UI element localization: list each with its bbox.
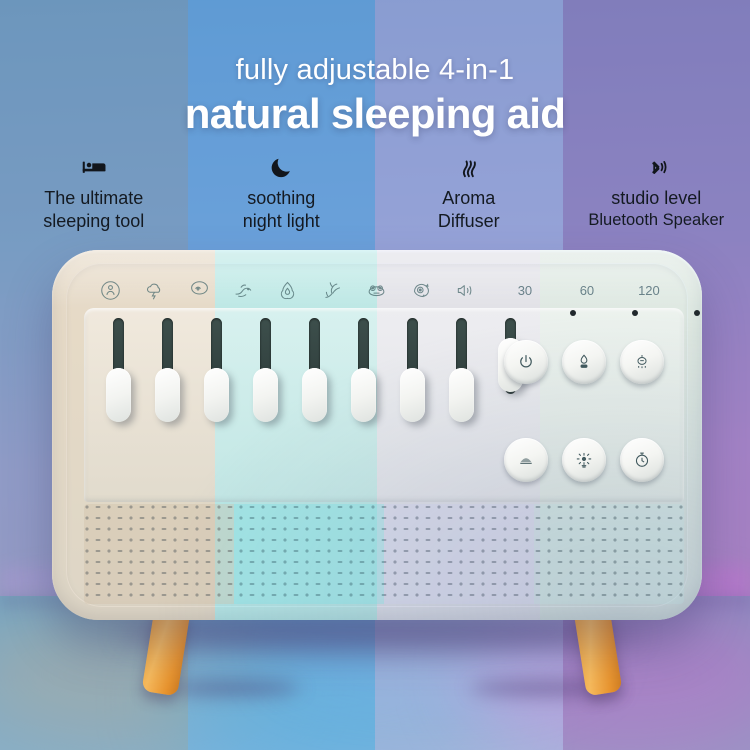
light-button[interactable] (562, 438, 606, 482)
feature-aroma-diffuser: Aroma Diffuser (375, 152, 563, 233)
sound-icon-strip: 30 60 120 (88, 270, 680, 310)
headline-block: fully adjustable 4-in-1 natural sleeping… (0, 0, 750, 138)
slider-knob[interactable] (204, 368, 229, 422)
cricket-grass-icon (310, 280, 354, 301)
slider-knob[interactable] (106, 368, 131, 422)
bluetooth-waves-icon (567, 152, 747, 182)
feature-line-2: Bluetooth Speaker (567, 210, 747, 231)
slider-bank (94, 312, 536, 506)
campfire-icon (266, 280, 310, 301)
feature-line-1: studio level (611, 188, 701, 208)
slider-cricket[interactable] (339, 312, 388, 506)
feature-line-1: Aroma (442, 188, 495, 208)
slider-thunder[interactable] (143, 312, 192, 506)
feature-row: The ultimate sleeping tool soothing nigh… (0, 152, 750, 233)
aroma-steam-icon (379, 152, 559, 182)
button-grid (498, 314, 670, 508)
volume-icon (444, 280, 488, 301)
feature-label: Aroma Diffuser (379, 187, 559, 233)
slider-frog[interactable] (388, 312, 437, 506)
thunder-cloud-icon (132, 280, 176, 301)
feature-line-1: soothing (247, 188, 315, 208)
timer-scale: 30 60 120 (494, 283, 680, 298)
frog-icon (355, 280, 399, 301)
feature-bluetooth-speaker: studio level Bluetooth Speaker (563, 152, 750, 231)
slider-knob[interactable] (449, 368, 474, 422)
slider-knob[interactable] (351, 368, 376, 422)
ocean-wave-icon (177, 280, 221, 301)
sleep-aid-device: 30 60 120 (52, 250, 702, 620)
leg-shadow-left (170, 680, 300, 696)
crescent-moon-icon (192, 152, 372, 182)
feature-line-2: night light (192, 210, 372, 233)
timer-button[interactable] (620, 438, 664, 482)
slider-ocean[interactable] (192, 312, 241, 506)
diffuser-button[interactable] (620, 340, 664, 384)
feature-label: The ultimate sleeping tool (4, 187, 184, 233)
slider-baby[interactable] (94, 312, 143, 506)
power-button[interactable] (504, 340, 548, 384)
timer-dot-120[interactable] (666, 310, 728, 316)
feature-line-2: sleeping tool (4, 210, 184, 233)
product-marketing-image: 30 60 120 (0, 0, 750, 750)
slider-knob[interactable] (302, 368, 327, 422)
control-panel (84, 308, 684, 502)
kicker-text: fully adjustable 4-in-1 (0, 55, 750, 85)
aroma-button[interactable] (562, 340, 606, 384)
feature-night-light: soothing night light (188, 152, 376, 233)
feature-line-1: The ultimate (44, 188, 143, 208)
slider-knob[interactable] (155, 368, 180, 422)
feature-label: studio level Bluetooth Speaker (567, 187, 747, 231)
feature-line-2: Diffuser (379, 210, 559, 233)
slider-owl[interactable] (437, 312, 486, 506)
timer-label-60: 60 (556, 283, 618, 298)
bird-icon (221, 280, 265, 301)
bluetooth-button[interactable] (504, 438, 548, 482)
feature-label: soothing night light (192, 187, 372, 233)
owl-icon (399, 280, 443, 301)
slider-fire[interactable] (290, 312, 339, 506)
feature-sleeping-tool: The ultimate sleeping tool (0, 152, 188, 233)
timer-label-30: 30 (494, 283, 556, 298)
slider-knob[interactable] (400, 368, 425, 422)
timer-label-120: 120 (618, 283, 680, 298)
speaker-grille (84, 504, 684, 604)
baby-icon (88, 280, 132, 301)
page-title: natural sleeping aid (0, 91, 750, 137)
slider-knob[interactable] (253, 368, 278, 422)
device-ground-shadow (120, 616, 640, 650)
bed-icon (4, 152, 184, 182)
slider-bird[interactable] (241, 312, 290, 506)
grille-tint (84, 504, 684, 604)
